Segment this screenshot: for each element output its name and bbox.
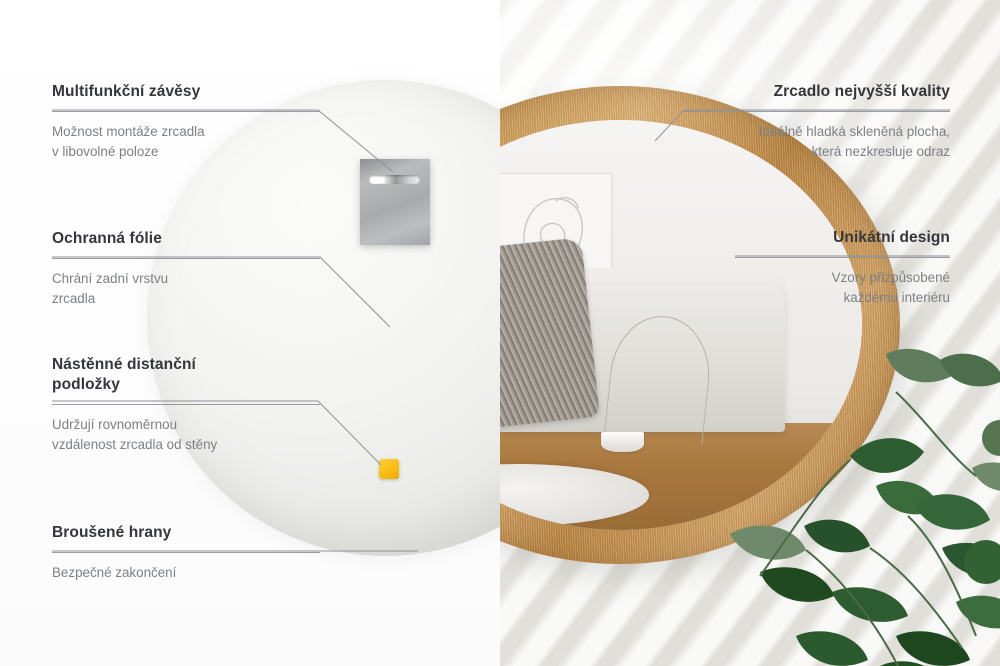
callout-rule [52, 111, 320, 112]
reflected-lamp-shade [601, 432, 645, 453]
hanger-slot-hole [372, 177, 385, 183]
callout-zrcadlo-nejvyssi-kvality: Zrcadlo nejvyšší kvality Ideálně hladká … [684, 82, 950, 161]
callout-rule [735, 257, 950, 258]
callout-unikatni-design: Unikátní design Vzory přizpůsobenékaždém… [735, 228, 950, 307]
callout-rule [52, 404, 320, 405]
callout-nastenne-distancni-podlozky: Nástěnné distančnípodložky Udržují rovno… [52, 355, 320, 454]
callout-title: Unikátní design [735, 228, 950, 248]
callout-title: Multifunkční závěsy [52, 82, 320, 102]
callout-description: Udržují rovnoměrnouvzdálenost zrcadla od… [52, 415, 320, 454]
callout-title: Zrcadlo nejvyšší kvality [684, 82, 950, 102]
callout-title: Ochranná fólie [52, 229, 320, 249]
mirror-glass [500, 120, 862, 530]
callout-description: Vzory přizpůsobenékaždému interiéru [735, 268, 950, 307]
callout-rule [52, 258, 320, 259]
callout-title: Nástěnné distančnípodložky [52, 355, 320, 395]
callout-multifunkcni-zavesy: Multifunkční závěsy Možnost montáže zrca… [52, 82, 320, 161]
product-feature-diagram: Multifunkční závěsy Možnost montáže zrca… [0, 0, 1000, 666]
callout-rule [52, 552, 320, 553]
hanger-slot [369, 175, 420, 184]
callout-brousene-hrany: Broušené hrany Bezpečné zakončení [52, 523, 320, 583]
callout-title: Broušené hrany [52, 523, 320, 543]
callout-ochranna-folie: Ochranná fólie Chrání zadní vrstvuzrcadl… [52, 229, 320, 308]
callout-description: Možnost montáže zrcadlav libovolné poloz… [52, 122, 320, 161]
callout-description: Bezpečné zakončení [52, 563, 320, 582]
callout-description: Ideálně hladká skleněná plocha,která nez… [684, 122, 950, 161]
hanger-plate [360, 159, 430, 245]
callout-description: Chrání zadní vrstvuzrcadla [52, 269, 320, 308]
yellow-spacer-pad [379, 459, 399, 479]
callout-rule [684, 111, 950, 112]
